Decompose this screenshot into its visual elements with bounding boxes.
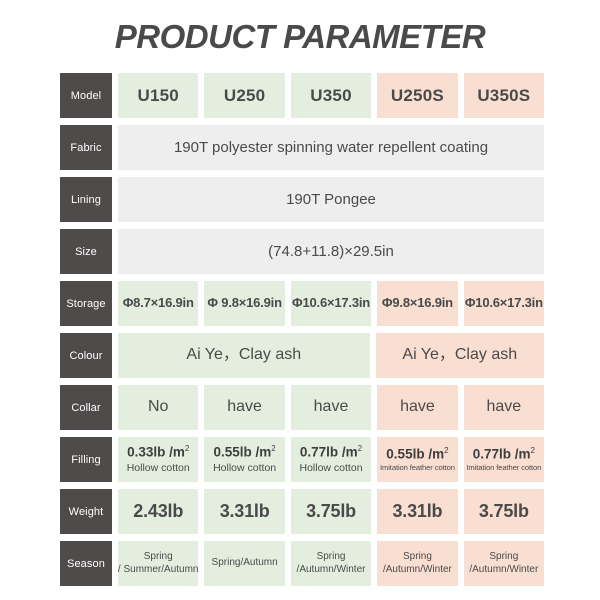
season-line-2: /Autumn/Winter <box>383 564 452 577</box>
product-parameter-page: PRODUCT PARAMETER Model U150 U250 U350 U… <box>0 0 600 600</box>
cell-model-u250s: U250S <box>377 73 457 118</box>
row-label-colour: Colour <box>60 333 112 378</box>
cell-weight-u250: 3.31lb <box>204 489 284 534</box>
row-label-weight: Weight <box>60 489 112 534</box>
row-label-season: Season <box>60 541 112 586</box>
filling-amount: 0.55lb /m2 <box>386 446 448 462</box>
table-row-season: Season Spring / Summer/Autumn Spring/Aut… <box>60 541 544 586</box>
row-cells-weight: 2.43lb 3.31lb 3.75lb 3.31lb 3.75lb <box>118 489 544 534</box>
cell-filling-u250: 0.55lb /m2 Hollow cotton <box>204 437 284 482</box>
cell-weight-u150: 2.43lb <box>118 489 198 534</box>
row-cells-fabric: 190T polyester spinning water repellent … <box>118 125 544 170</box>
cell-collar-u250: have <box>204 385 284 430</box>
filling-material: Imitation feather cotton <box>466 464 541 473</box>
row-cells-lining: 190T Pongee <box>118 177 544 222</box>
table-row-weight: Weight 2.43lb 3.31lb 3.75lb 3.31lb 3.75l… <box>60 489 544 534</box>
row-cells-model: U150 U250 U350 U250S U350S <box>118 73 544 118</box>
table-row-size: Size (74.8+11.8)×29.5in <box>60 229 544 274</box>
filling-amount: 0.55lb /m2 <box>213 444 275 460</box>
cell-lining-value: 190T Pongee <box>118 177 544 222</box>
cell-weight-u350s: 3.75lb <box>464 489 544 534</box>
cell-size-value: (74.8+11.8)×29.5in <box>118 229 544 274</box>
cell-collar-u150: No <box>118 385 198 430</box>
cell-season-u250: Spring/Autumn <box>204 541 284 586</box>
cell-season-u350s: Spring /Autumn/Winter <box>464 541 544 586</box>
cell-storage-u250: Φ 9.8×16.9in <box>204 281 284 326</box>
row-label-model: Model <box>60 73 112 118</box>
cell-colour-s-series: Ai Ye，Clay ash <box>376 333 544 378</box>
cell-collar-u350s: have <box>464 385 544 430</box>
cell-storage-u250s: Φ9.8×16.9in <box>377 281 457 326</box>
table-row-filling: Filling 0.33lb /m2 Hollow cotton 0.55lb … <box>60 437 544 482</box>
row-label-collar: Collar <box>60 385 112 430</box>
filling-material: Imitation feather cotton <box>380 464 455 473</box>
filling-amount: 0.33lb /m2 <box>127 444 189 460</box>
parameter-table: Model U150 U250 U350 U250S U350S Fabric … <box>60 73 544 586</box>
cell-filling-u150: 0.33lb /m2 Hollow cotton <box>118 437 198 482</box>
row-cells-filling: 0.33lb /m2 Hollow cotton 0.55lb /m2 Holl… <box>118 437 544 482</box>
row-cells-storage: Φ8.7×16.9in Φ 9.8×16.9in Φ10.6×17.3in Φ9… <box>118 281 544 326</box>
cell-season-u350: Spring /Autumn/Winter <box>291 541 371 586</box>
season-line-2: / Summer/Autumn <box>118 564 198 577</box>
row-cells-collar: No have have have have <box>118 385 544 430</box>
row-label-fabric: Fabric <box>60 125 112 170</box>
filling-material: Hollow cotton <box>127 462 190 474</box>
cell-fabric-value: 190T polyester spinning water repellent … <box>118 125 544 170</box>
table-row-collar: Collar No have have have have <box>60 385 544 430</box>
filling-material: Hollow cotton <box>300 462 363 474</box>
table-row-fabric: Fabric 190T polyester spinning water rep… <box>60 125 544 170</box>
table-row-model: Model U150 U250 U350 U250S U350S <box>60 73 544 118</box>
cell-model-u350: U350 <box>291 73 371 118</box>
cell-colour-standard: Ai Ye，Clay ash <box>118 333 370 378</box>
row-label-storage: Storage <box>60 281 112 326</box>
season-line-1: Spring <box>489 551 518 564</box>
cell-model-u250: U250 <box>204 73 284 118</box>
season-line-2: /Autumn/Winter <box>469 564 538 577</box>
row-label-lining: Lining <box>60 177 112 222</box>
season-line-1: Spring/Autumn <box>212 557 278 570</box>
cell-filling-u350: 0.77lb /m2 Hollow cotton <box>291 437 371 482</box>
filling-amount: 0.77lb /m2 <box>300 444 362 460</box>
table-row-lining: Lining 190T Pongee <box>60 177 544 222</box>
season-line-2: /Autumn/Winter <box>297 564 366 577</box>
table-row-storage: Storage Φ8.7×16.9in Φ 9.8×16.9in Φ10.6×1… <box>60 281 544 326</box>
season-line-1: Spring <box>144 551 173 564</box>
filling-amount: 0.77lb /m2 <box>473 446 535 462</box>
cell-collar-u250s: have <box>377 385 457 430</box>
season-line-1: Spring <box>317 551 346 564</box>
cell-storage-u150: Φ8.7×16.9in <box>118 281 198 326</box>
cell-storage-u350: Φ10.6×17.3in <box>291 281 371 326</box>
cell-storage-u350s: Φ10.6×17.3in <box>464 281 544 326</box>
row-cells-season: Spring / Summer/Autumn Spring/Autumn Spr… <box>118 541 544 586</box>
cell-filling-u350s: 0.77lb /m2 Imitation feather cotton <box>464 437 544 482</box>
cell-weight-u250s: 3.31lb <box>377 489 457 534</box>
cell-season-u150: Spring / Summer/Autumn <box>118 541 198 586</box>
season-line-1: Spring <box>403 551 432 564</box>
filling-material: Hollow cotton <box>213 462 276 474</box>
row-label-size: Size <box>60 229 112 274</box>
table-row-colour: Colour Ai Ye，Clay ash Ai Ye，Clay ash <box>60 333 544 378</box>
cell-weight-u350: 3.75lb <box>291 489 371 534</box>
row-cells-size: (74.8+11.8)×29.5in <box>118 229 544 274</box>
row-label-filling: Filling <box>60 437 112 482</box>
row-cells-colour: Ai Ye，Clay ash Ai Ye，Clay ash <box>118 333 544 378</box>
cell-season-u250s: Spring /Autumn/Winter <box>377 541 457 586</box>
cell-model-u350s: U350S <box>464 73 544 118</box>
page-title: PRODUCT PARAMETER <box>0 18 600 56</box>
cell-filling-u250s: 0.55lb /m2 Imitation feather cotton <box>377 437 457 482</box>
cell-collar-u350: have <box>291 385 371 430</box>
cell-model-u150: U150 <box>118 73 198 118</box>
